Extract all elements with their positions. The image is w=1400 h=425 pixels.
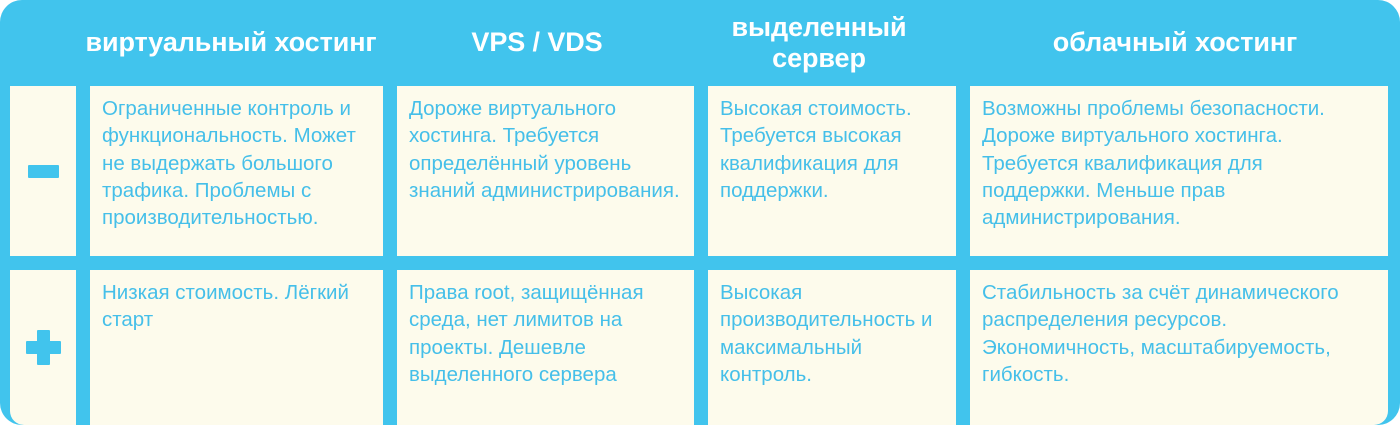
cell-cons-shared-hosting: Ограниченные контроль и функциональность… — [90, 86, 383, 256]
table-row-pros: + Низкая стоимость. Лёгкий старт Права r… — [0, 270, 1400, 425]
row-gutter — [1388, 270, 1398, 425]
row-gutter — [76, 270, 90, 425]
row-gutter — [694, 86, 708, 256]
row-sign-cell-plus: + — [10, 270, 76, 425]
cell-pros-cloud-hosting: Стабильность за счёт динамического распр… — [970, 270, 1388, 425]
row-sign-cell-minus: − — [10, 86, 76, 256]
row-gutter — [694, 270, 708, 425]
table-row-cons: − Ограниченные контроль и функциональнос… — [0, 86, 1400, 256]
row-gutter — [956, 86, 970, 256]
row-gutter — [0, 270, 10, 425]
cell-pros-vps-vds: Права root, защищённая среда, нет лимито… — [397, 270, 694, 425]
minus-icon — [28, 165, 59, 178]
column-header-vps-vds: VPS / VDS — [386, 27, 688, 58]
row-gutter — [383, 270, 397, 425]
cell-cons-dedicated-server: Высокая стоимость. Требуется высокая ква… — [708, 86, 956, 256]
cell-pros-dedicated-server: Высокая производительность и максимальны… — [708, 270, 956, 425]
comparison-table: виртуальный хостинг VPS / VDS выделенный… — [0, 0, 1400, 425]
column-header-cloud-hosting: облачный хостинг — [950, 27, 1400, 58]
column-header-dedicated-server: выделенный сервер — [688, 12, 950, 75]
table-header-row: виртуальный хостинг VPS / VDS выделенный… — [0, 0, 1400, 86]
cell-cons-cloud-hosting: Возможны проблемы безопасности. Дороже в… — [970, 86, 1388, 256]
row-gutter — [76, 86, 90, 256]
row-gutter — [956, 270, 970, 425]
cell-cons-vps-vds: Дороже виртуального хостинга. Требуется … — [397, 86, 694, 256]
plus-icon — [26, 330, 61, 365]
table-body: − Ограниченные контроль и функциональнос… — [0, 86, 1400, 425]
cell-pros-shared-hosting: Низкая стоимость. Лёгкий старт — [90, 270, 383, 425]
column-header-shared-hosting: виртуальный хостинг — [76, 27, 386, 58]
row-gutter — [383, 86, 397, 256]
row-gutter — [0, 86, 10, 256]
row-gutter — [1388, 86, 1398, 256]
